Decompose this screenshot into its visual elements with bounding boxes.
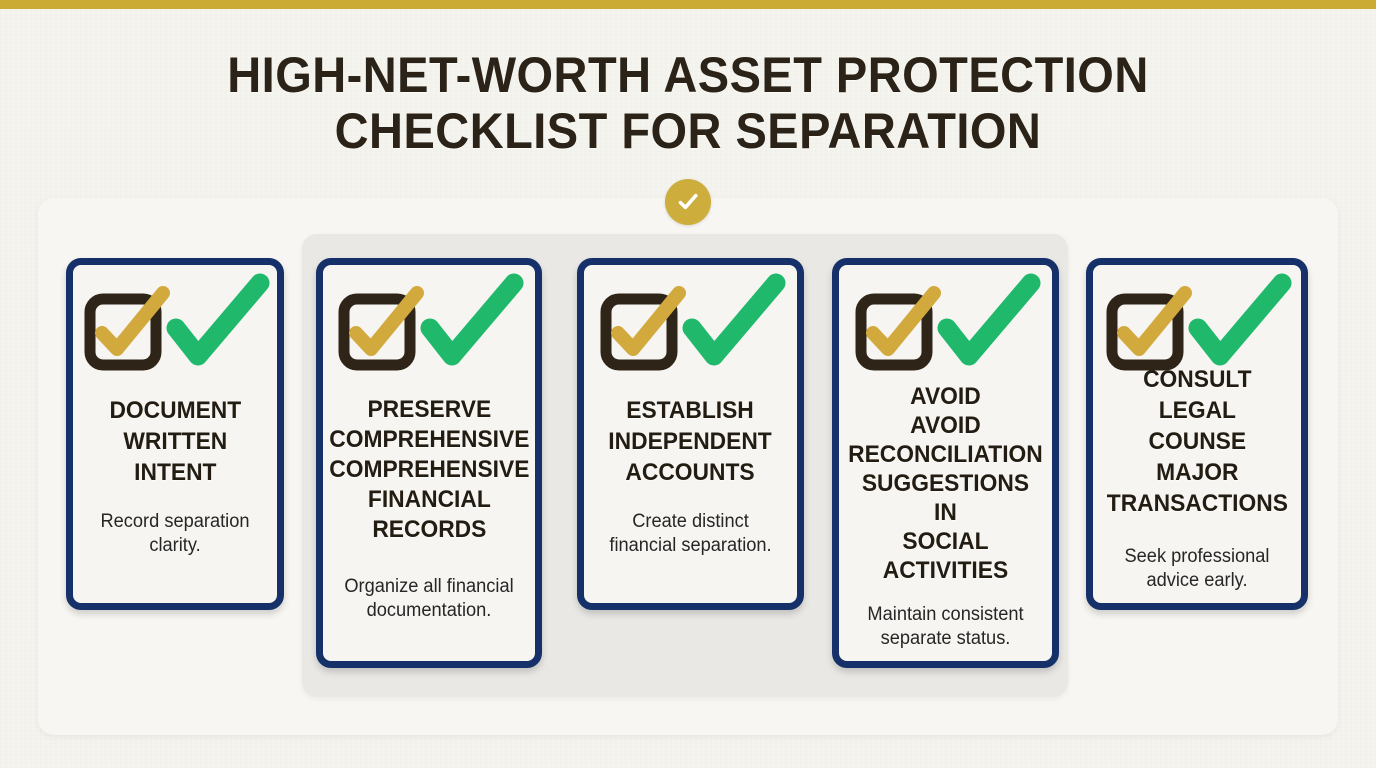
title-line-2: CHECKLIST FOR SEPARATION — [41, 103, 1334, 159]
card-title: PRESERVECOMPREHENSIVECOMPREHENSIVEFINANC… — [329, 395, 529, 545]
checklist-card[interactable]: PRESERVECOMPREHENSIVECOMPREHENSIVEFINANC… — [316, 258, 542, 668]
title-line-1: HIGH-NET-WORTH ASSET PROTECTION — [41, 47, 1334, 103]
checklist-card[interactable]: DOCUMENTWRITTENINTENT Record separation … — [66, 258, 284, 610]
card-icons — [851, 281, 1040, 376]
card-title: CONSULT LEGALCOUNSE MAJORTRANSACTIONS — [1106, 364, 1287, 519]
card-description: Record separation clarity. — [89, 510, 262, 558]
checklist-card[interactable]: ESTABLISHINDEPENDENTACCOUNTS Create dist… — [577, 258, 804, 610]
checklist-card[interactable]: CONSULT LEGALCOUNSE MAJORTRANSACTIONS Se… — [1086, 258, 1308, 610]
card-title: ESTABLISHINDEPENDENTACCOUNTS — [609, 395, 772, 488]
card-icons — [335, 281, 523, 389]
card-description: Organize all financial documentation. — [339, 575, 519, 623]
card-icons — [1105, 281, 1289, 358]
card-description: Seek professional advice early. — [1109, 545, 1286, 593]
page-title: HIGH-NET-WORTH ASSET PROTECTION CHECKLIS… — [0, 47, 1376, 159]
card-icons — [596, 281, 785, 389]
checkbox-and-check-icons — [600, 281, 782, 389]
card-title: DOCUMENTWRITTENINTENT — [109, 395, 241, 488]
checkbox-and-check-icons — [338, 281, 520, 389]
card-description: Maintain consistent separate status. — [855, 603, 1036, 651]
card-icons — [85, 281, 265, 389]
top-accent-bar — [0, 0, 1376, 9]
card-title: AVOIDAVOIDRECONCILIATIONSUGGESTIONS INSO… — [848, 382, 1043, 585]
checklist-card[interactable]: AVOIDAVOIDRECONCILIATIONSUGGESTIONS INSO… — [832, 258, 1059, 668]
card-description: Create distinct financial separation. — [600, 510, 781, 558]
checkbox-and-check-icons — [84, 281, 266, 389]
check-circle-icon — [665, 179, 711, 225]
checkbox-and-check-icons — [855, 281, 1037, 389]
